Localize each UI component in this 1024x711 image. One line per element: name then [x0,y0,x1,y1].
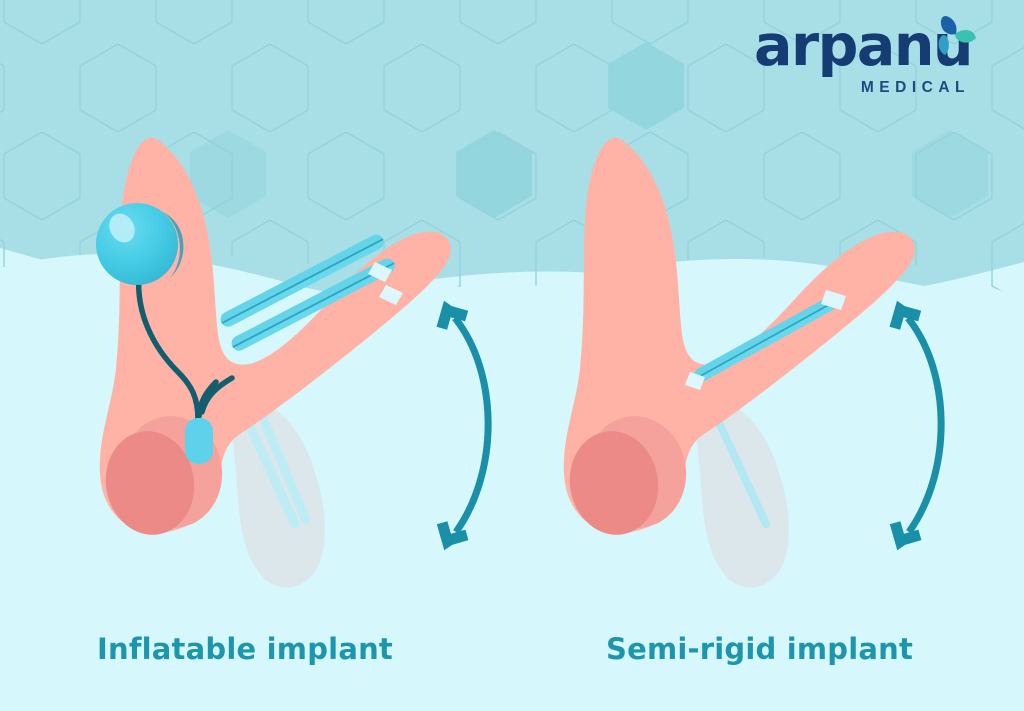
arpanu-pinwheel-mark [916,8,980,72]
infographic-canvas: arpanu MEDICAL Inflatable implant Semi-r… [0,0,1024,711]
pump-bulb-left [185,418,213,464]
reservoir-sphere-left [96,203,178,285]
caption-inflatable-implant: Inflatable implant [97,632,393,666]
brand-logo[interactable]: arpanu MEDICAL [754,18,972,96]
brand-tagline: MEDICAL [754,80,970,96]
caption-semi-rigid-implant: Semi-rigid implant [606,632,913,666]
illustration-artboard [0,0,1024,711]
